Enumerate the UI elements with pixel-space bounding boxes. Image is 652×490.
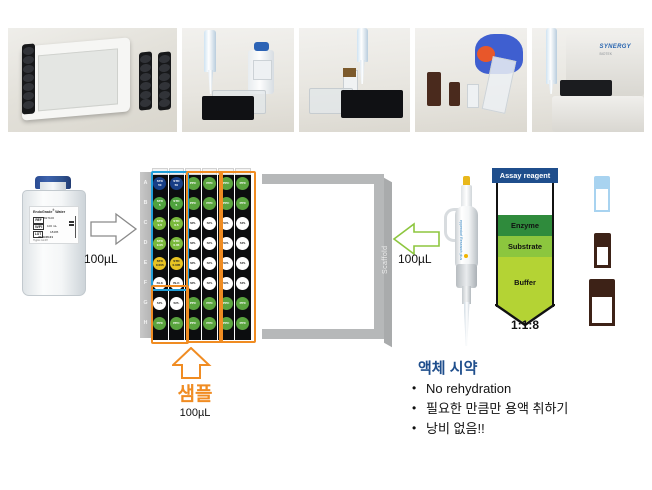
list-item: • 낭비 없음!! xyxy=(412,421,568,437)
bullet-glyph: • xyxy=(412,381,426,396)
liquid-reagent-title: 액체 시약 xyxy=(418,357,477,378)
slide-canvas: SYNERGY BIOTEK EndoGrade® Water REF 8271… xyxy=(0,0,652,490)
bullet-glyph: • xyxy=(412,401,426,416)
bullet-glyph: • xyxy=(412,421,426,436)
bottle-label: EndoGrade® Water REF 827100 WFI 100 mL L… xyxy=(29,206,79,244)
endograde-water-bottle: EndoGrade® Water REF 827100 WFI 100 mL L… xyxy=(22,176,84,294)
sample-highlight-box-mid xyxy=(186,171,223,343)
black-well-strip-left xyxy=(22,43,35,114)
large-brown-vial-photo xyxy=(427,72,441,106)
bottle-label-photo xyxy=(253,60,272,80)
reader-plate-tray xyxy=(560,80,612,96)
water-volume-label: 100µL xyxy=(84,252,118,266)
blue-vial-body xyxy=(594,187,610,212)
pipette-photo xyxy=(546,28,557,84)
bottle-brand: EndoGrade xyxy=(33,210,52,214)
black-well-strip-c xyxy=(158,51,171,110)
synergy-sublogo: BIOTEK xyxy=(600,52,612,56)
bullet-text-1: No rehydration xyxy=(426,381,511,397)
ref-value: 827100 xyxy=(44,217,54,220)
microplate[interactable]: A B C D E F G H STD50STD5STD0.5STD0.05ST… xyxy=(140,168,254,340)
sample-up-arrow xyxy=(172,347,212,379)
plate-reader-photo: SYNERGY BIOTEK xyxy=(532,28,644,132)
pipette-photo xyxy=(357,28,368,62)
gloved-hand-vials-photo xyxy=(415,28,526,132)
reagent-volume-label: 100µL xyxy=(398,252,432,266)
pipetting-water-photo xyxy=(182,28,293,132)
grade-tag: WFI xyxy=(33,224,44,230)
row-label-f: F xyxy=(140,280,151,286)
row-label-a: A xyxy=(140,180,151,186)
standards-highlight-box xyxy=(151,171,189,291)
buffer-band: Buffer xyxy=(498,257,552,307)
pipette-graphic: eppendorf Research plus xyxy=(443,176,485,346)
row-label-g: G xyxy=(140,300,151,306)
ref-tag: REF xyxy=(33,217,44,224)
pipette-grip xyxy=(456,264,477,288)
white-plate-frame xyxy=(22,37,130,120)
sample-highlight-box-right xyxy=(219,171,256,343)
bottle-product: Water xyxy=(55,210,65,214)
row-label-h: H xyxy=(140,320,151,326)
reagent-transfer-arrow xyxy=(392,222,440,256)
vial-set xyxy=(586,176,630,326)
sample-highlight-box-left xyxy=(151,285,189,344)
pipette-photo xyxy=(204,30,216,72)
scaffold-top-bar xyxy=(262,174,384,184)
pipette-volume-dot xyxy=(464,254,468,258)
registered-mark: ® xyxy=(52,209,54,212)
pipette-cone xyxy=(462,286,471,304)
large-brown-vial-cap xyxy=(589,279,615,295)
bullet-text-2: 필요한 만큼만 용액 취하기 xyxy=(426,401,568,417)
pipette-tip xyxy=(464,302,470,346)
assay-reagent-header: Assay reagent xyxy=(492,168,558,183)
assay-reagent-funnel: Assay reagent Enzyme Substrate Buffer 1:… xyxy=(492,168,558,328)
list-item: • 필요한 만큼만 용액 취하기 xyxy=(412,401,568,417)
reagent-ratio-label: 1:1:8 xyxy=(492,318,558,332)
label-rule xyxy=(75,216,76,238)
volume-value: 100 mL xyxy=(47,225,57,228)
substrate-band: Substrate xyxy=(498,236,552,257)
pipette-brand-label: eppendorf Research plus xyxy=(459,220,463,260)
sample-volume-label: 100µL xyxy=(155,407,235,419)
lot-value: 18495 xyxy=(50,231,58,234)
clear-vial-photo xyxy=(467,84,479,108)
synergy-logo: SYNERGY xyxy=(600,44,631,50)
label-bar-2 xyxy=(69,224,74,226)
plate-row-header: A B C D E F G H xyxy=(140,172,151,338)
plate-frame-and-strip-photo xyxy=(8,28,177,132)
small-brown-vial-body xyxy=(594,244,611,268)
list-item: • No rehydration xyxy=(412,381,568,397)
row-label-d: D xyxy=(140,240,151,246)
enzyme-band: Enzyme xyxy=(498,215,552,236)
scaffold-bottom-bar xyxy=(262,329,384,339)
bullet-text-3: 낭비 없음!! xyxy=(426,421,485,437)
reader-base xyxy=(552,96,644,132)
row-label-c: C xyxy=(140,220,151,226)
large-brown-vial-body xyxy=(589,294,615,326)
liquid-reagent-bullets: • No rehydration • 필요한 만큼만 용액 취하기 • 낭비 없… xyxy=(412,381,568,441)
water-transfer-arrow xyxy=(90,212,138,246)
vial-cap-photo xyxy=(343,68,356,77)
sample-label: 샘플 xyxy=(155,379,235,406)
manufacturer: Hyglos GmbH xyxy=(33,240,48,242)
label-bar xyxy=(69,221,74,223)
bottle-cap-photo xyxy=(254,42,269,51)
black-plate-photo xyxy=(202,96,254,120)
photo-strip: SYNERGY BIOTEK xyxy=(8,28,644,132)
row-label-b: B xyxy=(140,200,151,206)
black-well-strip-b xyxy=(139,51,152,110)
black-plate-photo xyxy=(341,90,403,118)
small-brown-vial-photo xyxy=(449,82,460,106)
row-label-e: E xyxy=(140,260,151,266)
scaffold-label: Scaffold xyxy=(382,246,389,274)
pipetting-vial-photo xyxy=(299,28,410,132)
